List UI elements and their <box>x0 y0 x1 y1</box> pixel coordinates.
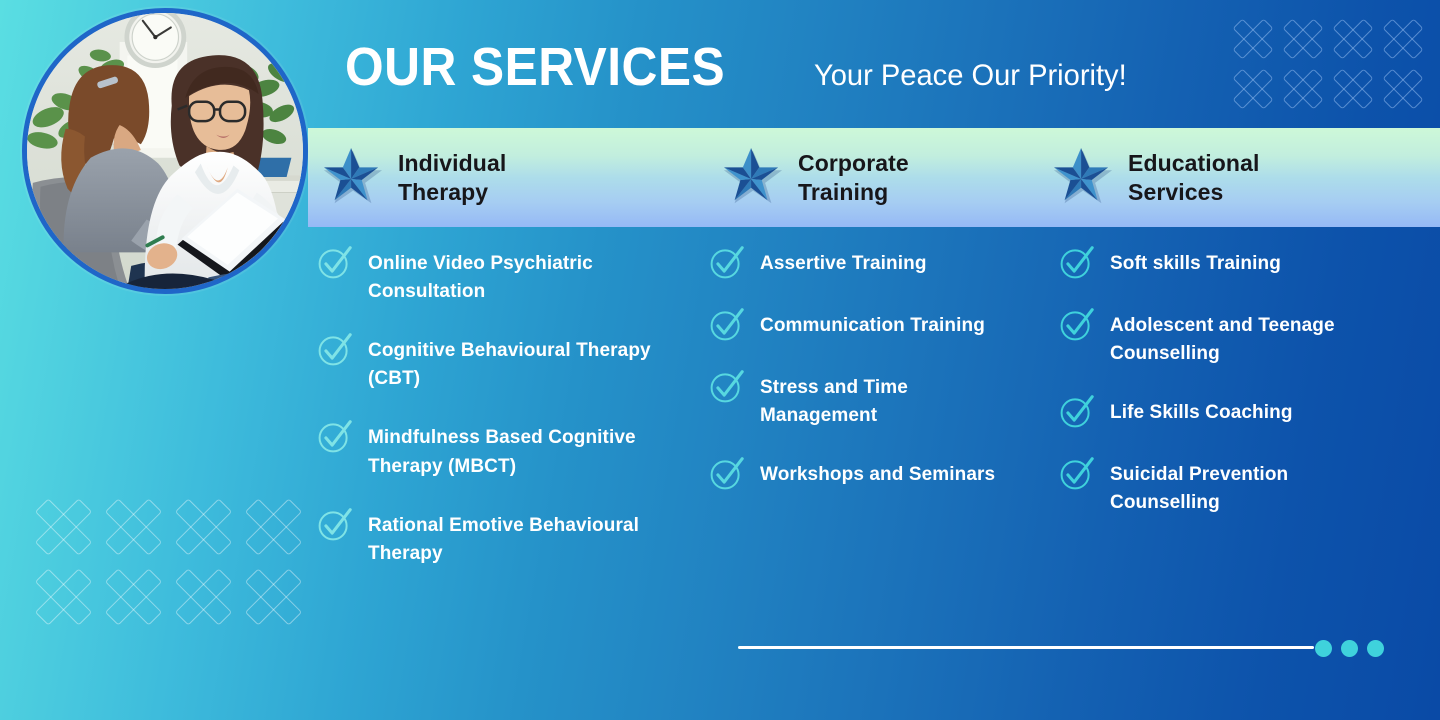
list-item[interactable]: Workshops and Seminars <box>708 459 1058 492</box>
page-title: OUR SERVICES <box>345 36 725 98</box>
check-circle-icon <box>316 507 352 543</box>
header: OUR SERVICES Your Peace Our Priority! <box>345 36 1136 98</box>
category-corporate-training[interactable]: Corporate Training <box>722 147 1052 209</box>
service-columns: Online Video Psychiatric Consultation Co… <box>308 248 1440 597</box>
list-item[interactable]: Rational Emotive Behavioural Therapy <box>316 510 708 568</box>
services-slide: OUR SERVICES Your Peace Our Priority! <box>0 0 1440 720</box>
list-item[interactable]: Soft skills Training <box>1058 248 1403 281</box>
category-label-line2: Services <box>1128 178 1259 207</box>
list-item[interactable]: Adolescent and Teenage Counselling <box>1058 310 1403 368</box>
check-circle-icon <box>316 245 352 281</box>
footer-divider <box>738 646 1314 649</box>
x-cross-pattern-top-right-icon <box>1228 14 1428 114</box>
list-item[interactable]: Communication Training <box>708 310 1058 343</box>
category-individual-therapy[interactable]: Individual Therapy <box>322 147 722 209</box>
star-icon <box>1052 147 1114 209</box>
check-circle-icon <box>1058 307 1094 343</box>
check-circle-icon <box>708 456 744 492</box>
service-list-individual-therapy: Online Video Psychiatric Consultation Co… <box>308 248 708 597</box>
category-label-line1: Individual <box>398 149 506 178</box>
star-icon <box>722 147 784 209</box>
footer-dot <box>1315 640 1332 657</box>
check-circle-icon <box>708 369 744 405</box>
service-list-educational-services: Soft skills Training Adolescent and Teen… <box>1058 248 1403 597</box>
service-list-corporate-training: Assertive Training Communication Trainin… <box>708 248 1058 597</box>
footer-dot <box>1367 640 1384 657</box>
category-label-line1: Educational <box>1128 149 1259 178</box>
category-label-line2: Therapy <box>398 178 506 207</box>
check-circle-icon <box>1058 394 1094 430</box>
list-item[interactable]: Stress and Time Management <box>708 372 1058 430</box>
list-item[interactable]: Life Skills Coaching <box>1058 397 1403 430</box>
therapy-session-photo <box>22 8 308 294</box>
category-band: Individual Therapy <box>308 128 1440 227</box>
category-label-line1: Corporate <box>798 149 909 178</box>
check-circle-icon <box>316 332 352 368</box>
x-cross-pattern-bottom-left-icon <box>28 492 308 632</box>
check-circle-icon <box>708 245 744 281</box>
category-educational-services[interactable]: Educational Services <box>1052 147 1382 209</box>
photo-illustration <box>27 13 303 289</box>
category-label-line2: Training <box>798 178 909 207</box>
check-circle-icon <box>1058 456 1094 492</box>
footer-dots <box>1315 640 1384 657</box>
list-item[interactable]: Assertive Training <box>708 248 1058 281</box>
category-label: Corporate Training <box>798 149 909 207</box>
list-item[interactable]: Cognitive Behavioural Therapy (CBT) <box>316 335 708 393</box>
check-circle-icon <box>708 307 744 343</box>
category-label: Educational Services <box>1128 149 1259 207</box>
check-circle-icon <box>1058 245 1094 281</box>
list-item[interactable]: Suicidal Prevention Counselling <box>1058 459 1403 517</box>
list-item[interactable]: Online Video Psychiatric Consultation <box>316 248 708 306</box>
star-icon <box>322 147 384 209</box>
category-label: Individual Therapy <box>398 149 506 207</box>
footer-dot <box>1341 640 1358 657</box>
check-circle-icon <box>316 419 352 455</box>
tagline: Your Peace Our Priority! <box>814 59 1127 93</box>
list-item[interactable]: Mindfulness Based Cognitive Therapy (MBC… <box>316 422 708 480</box>
